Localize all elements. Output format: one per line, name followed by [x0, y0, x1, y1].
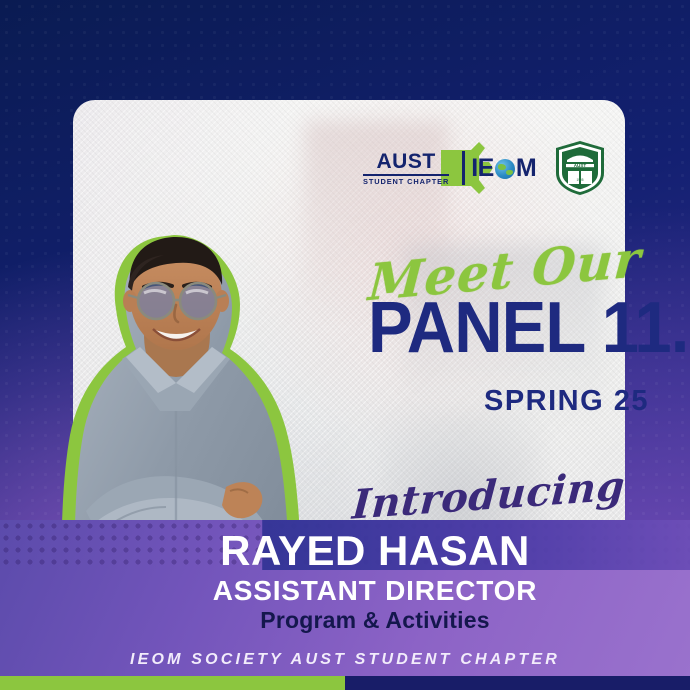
ieom-prefix: IE — [471, 156, 494, 181]
organization-footer: IEOM SOCIETY AUST STUDENT CHAPTER — [0, 651, 690, 669]
student-chapter-text: STUDENT CHAPTER — [363, 178, 449, 185]
svg-text:AUST: AUST — [574, 163, 587, 168]
ieom-wordmark: IE M — [471, 156, 536, 181]
bottom-strip-green — [0, 676, 345, 690]
svg-text:1995: 1995 — [577, 178, 584, 182]
headline-season: SPRING 25 — [484, 385, 649, 418]
person-role: ASSISTANT DIRECTOR — [0, 575, 690, 607]
aust-crest-icon: AUST 1995 — [554, 140, 606, 196]
aust-underline-rule — [363, 174, 449, 176]
bottom-strip — [0, 676, 690, 690]
logo-divider — [462, 151, 465, 185]
headline-main: PANEL 11.0 — [368, 292, 690, 364]
poster-canvas: AUST STUDENT CHAPTER IE M AUST 1995 Meet… — [0, 0, 690, 690]
logo-row: AUST STUDENT CHAPTER IE M AUST 1995 — [363, 140, 606, 196]
globe-icon — [495, 159, 515, 179]
aust-main-text: AUST — [363, 151, 449, 172]
bottom-strip-navy — [345, 676, 690, 690]
person-department: Program & Activities — [0, 607, 690, 634]
person-name: RAYED HASAN — [0, 527, 690, 575]
aust-ieom-student-chapter-logo: AUST STUDENT CHAPTER IE M — [363, 144, 536, 192]
aust-wordmark: AUST STUDENT CHAPTER — [363, 151, 456, 185]
ieom-suffix: M — [516, 156, 536, 181]
